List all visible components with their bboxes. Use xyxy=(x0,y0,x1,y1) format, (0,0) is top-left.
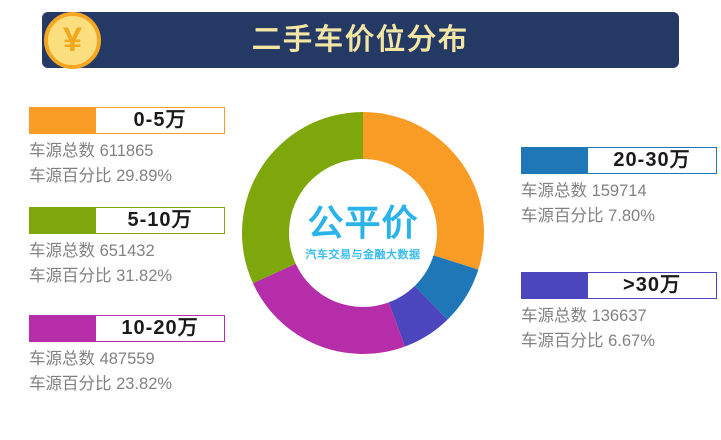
legend-head: 5-10万 xyxy=(29,207,225,234)
donut-chart-svg xyxy=(238,108,488,358)
legend-label: 5-10万 xyxy=(95,207,225,234)
legend-swatch-icon xyxy=(29,107,95,134)
yen-coin-icon: ¥ xyxy=(44,12,101,69)
legend-count: 车源总数 651432 xyxy=(29,239,225,264)
legend-swatch-icon xyxy=(521,272,587,299)
legend-stats: 车源总数 611865 车源百分比 29.89% xyxy=(29,139,225,189)
legend-count: 车源总数 136637 xyxy=(521,304,717,329)
legend-head: >30万 xyxy=(521,272,717,299)
page-title: 二手车价位分布 xyxy=(42,12,679,68)
legend-percent: 车源百分比 23.82% xyxy=(29,372,225,397)
legend-percent: 车源百分比 31.82% xyxy=(29,264,225,289)
header-banner: 二手车价位分布 xyxy=(42,12,679,68)
legend-percent: 车源百分比 6.67% xyxy=(521,329,717,354)
legend-item-10-20[interactable]: 10-20万 车源总数 487559 车源百分比 23.82% xyxy=(29,315,225,397)
legend-swatch-icon xyxy=(29,315,95,342)
legend-count: 车源总数 487559 xyxy=(29,347,225,372)
legend-count: 车源总数 611865 xyxy=(29,139,225,164)
legend-item-0-5[interactable]: 0-5万 车源总数 611865 车源百分比 29.89% xyxy=(29,107,225,189)
legend-percent: 车源百分比 7.80% xyxy=(521,204,717,229)
donut-segments xyxy=(242,112,484,354)
donut-slice[interactable] xyxy=(242,112,363,283)
legend-head: 20-30万 xyxy=(521,147,717,174)
legend-swatch-icon xyxy=(521,147,587,174)
legend-label: 20-30万 xyxy=(587,147,717,174)
legend-label: 0-5万 xyxy=(95,107,225,134)
donut-slice[interactable] xyxy=(363,112,484,270)
legend-label: >30万 xyxy=(587,272,717,299)
legend-item-5-10[interactable]: 5-10万 车源总数 651432 车源百分比 31.82% xyxy=(29,207,225,289)
legend-percent: 车源百分比 29.89% xyxy=(29,164,225,189)
legend-item-20-30[interactable]: 20-30万 车源总数 159714 车源百分比 7.80% xyxy=(521,147,717,229)
legend-label: 10-20万 xyxy=(95,315,225,342)
legend-stats: 车源总数 136637 车源百分比 6.67% xyxy=(521,304,717,354)
donut-chart: 公平价 汽车交易与金融大数据 xyxy=(238,108,488,358)
legend-swatch-icon xyxy=(29,207,95,234)
legend-stats: 车源总数 487559 车源百分比 23.82% xyxy=(29,347,225,397)
legend-stats: 车源总数 159714 车源百分比 7.80% xyxy=(521,179,717,229)
legend-count: 车源总数 159714 xyxy=(521,179,717,204)
yen-symbol: ¥ xyxy=(48,16,97,65)
legend-head: 10-20万 xyxy=(29,315,225,342)
donut-slice[interactable] xyxy=(253,264,405,354)
legend-item-over-30[interactable]: >30万 车源总数 136637 车源百分比 6.67% xyxy=(521,272,717,354)
legend-head: 0-5万 xyxy=(29,107,225,134)
legend-stats: 车源总数 651432 车源百分比 31.82% xyxy=(29,239,225,289)
